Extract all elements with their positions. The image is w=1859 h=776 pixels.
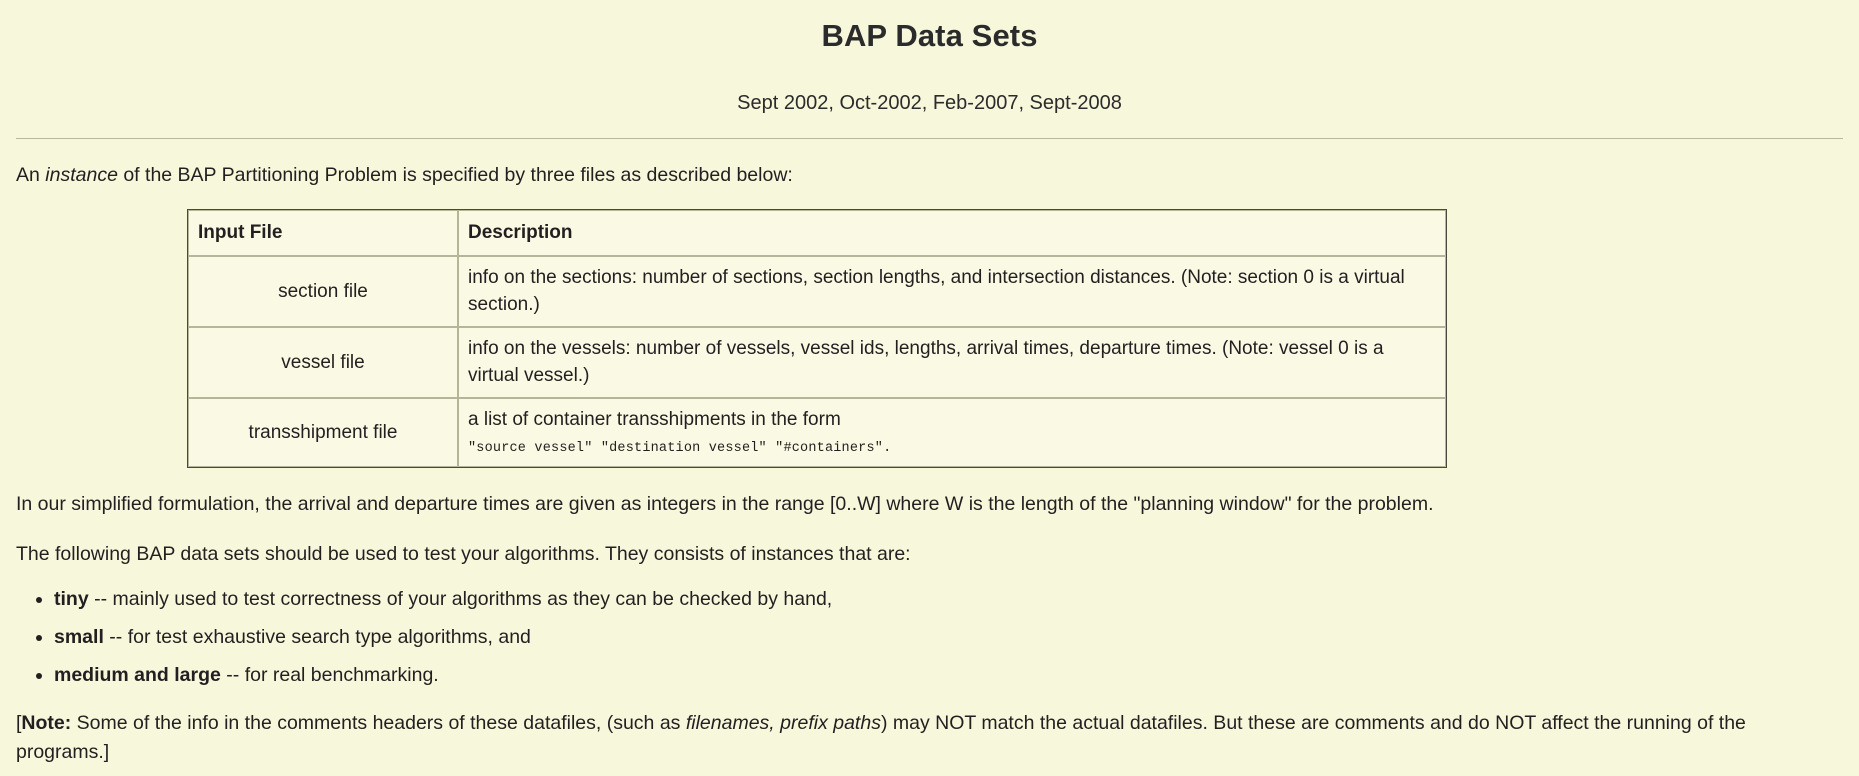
list-item: tiny -- mainly used to test correctness …	[54, 585, 1843, 613]
table-head: Input File Description	[188, 210, 1446, 256]
transshipment-format-code: "source vessel" "destination vessel" "#c…	[468, 439, 1436, 459]
column-header-description: Description	[458, 210, 1446, 256]
table-header-row: Input File Description	[188, 210, 1446, 256]
note-paragraph: [Note: Some of the info in the comments …	[16, 709, 1843, 766]
dataset-size-list: tiny -- mainly used to test correctness …	[16, 585, 1843, 690]
cell-description: info on the sections: number of sections…	[458, 256, 1446, 327]
page-title: BAP Data Sets	[16, 14, 1843, 59]
column-header-input-file: Input File	[188, 210, 458, 256]
list-item-text: -- for test exhaustive search type algor…	[104, 626, 531, 648]
cell-input-file: transshipment file	[188, 398, 458, 467]
intro-emphasis: instance	[45, 164, 118, 186]
datasets-intro-paragraph: The following BAP data sets should be us…	[16, 540, 1843, 568]
list-item-text: -- mainly used to test correctness of yo…	[89, 588, 833, 610]
page-subtitle: Sept 2002, Oct-2002, Feb-2007, Sept-2008	[16, 89, 1843, 118]
table-row: transshipment file a list of container t…	[188, 398, 1446, 467]
table-row: vessel file info on the vessels: number …	[188, 327, 1446, 398]
list-item-term: tiny	[54, 588, 89, 610]
intro-text-after: of the BAP Partitioning Problem is speci…	[118, 164, 793, 186]
table-row: section file info on the sections: numbe…	[188, 256, 1446, 327]
document-page: BAP Data Sets Sept 2002, Oct-2002, Feb-2…	[0, 14, 1859, 776]
list-item-term: medium and large	[54, 664, 221, 686]
input-files-table: Input File Description section file info…	[187, 209, 1447, 468]
input-files-table-wrapper: Input File Description section file info…	[16, 209, 1843, 468]
table-body: section file info on the sections: numbe…	[188, 256, 1446, 467]
list-item: medium and large -- for real benchmarkin…	[54, 661, 1843, 689]
cell-input-file: vessel file	[188, 327, 458, 398]
cell-input-file: section file	[188, 256, 458, 327]
intro-paragraph: An instance of the BAP Partitioning Prob…	[16, 161, 1843, 189]
list-item-term: small	[54, 626, 104, 648]
description-text: info on the vessels: number of vessels, …	[468, 338, 1384, 387]
note-label: Note:	[21, 712, 71, 734]
list-item: small -- for test exhaustive search type…	[54, 623, 1843, 651]
description-text: info on the sections: number of sections…	[468, 267, 1405, 316]
note-text-part1: Some of the info in the comments headers…	[71, 712, 686, 734]
formulation-paragraph: In our simplified formulation, the arriv…	[16, 490, 1843, 518]
list-item-text: -- for real benchmarking.	[221, 664, 439, 686]
header-divider	[16, 138, 1843, 139]
description-text: a list of container transshipments in th…	[468, 409, 841, 430]
intro-text-before: An	[16, 164, 45, 186]
cell-description: info on the vessels: number of vessels, …	[458, 327, 1446, 398]
note-emphasis: filenames, prefix paths	[686, 712, 881, 734]
cell-description: a list of container transshipments in th…	[458, 398, 1446, 467]
